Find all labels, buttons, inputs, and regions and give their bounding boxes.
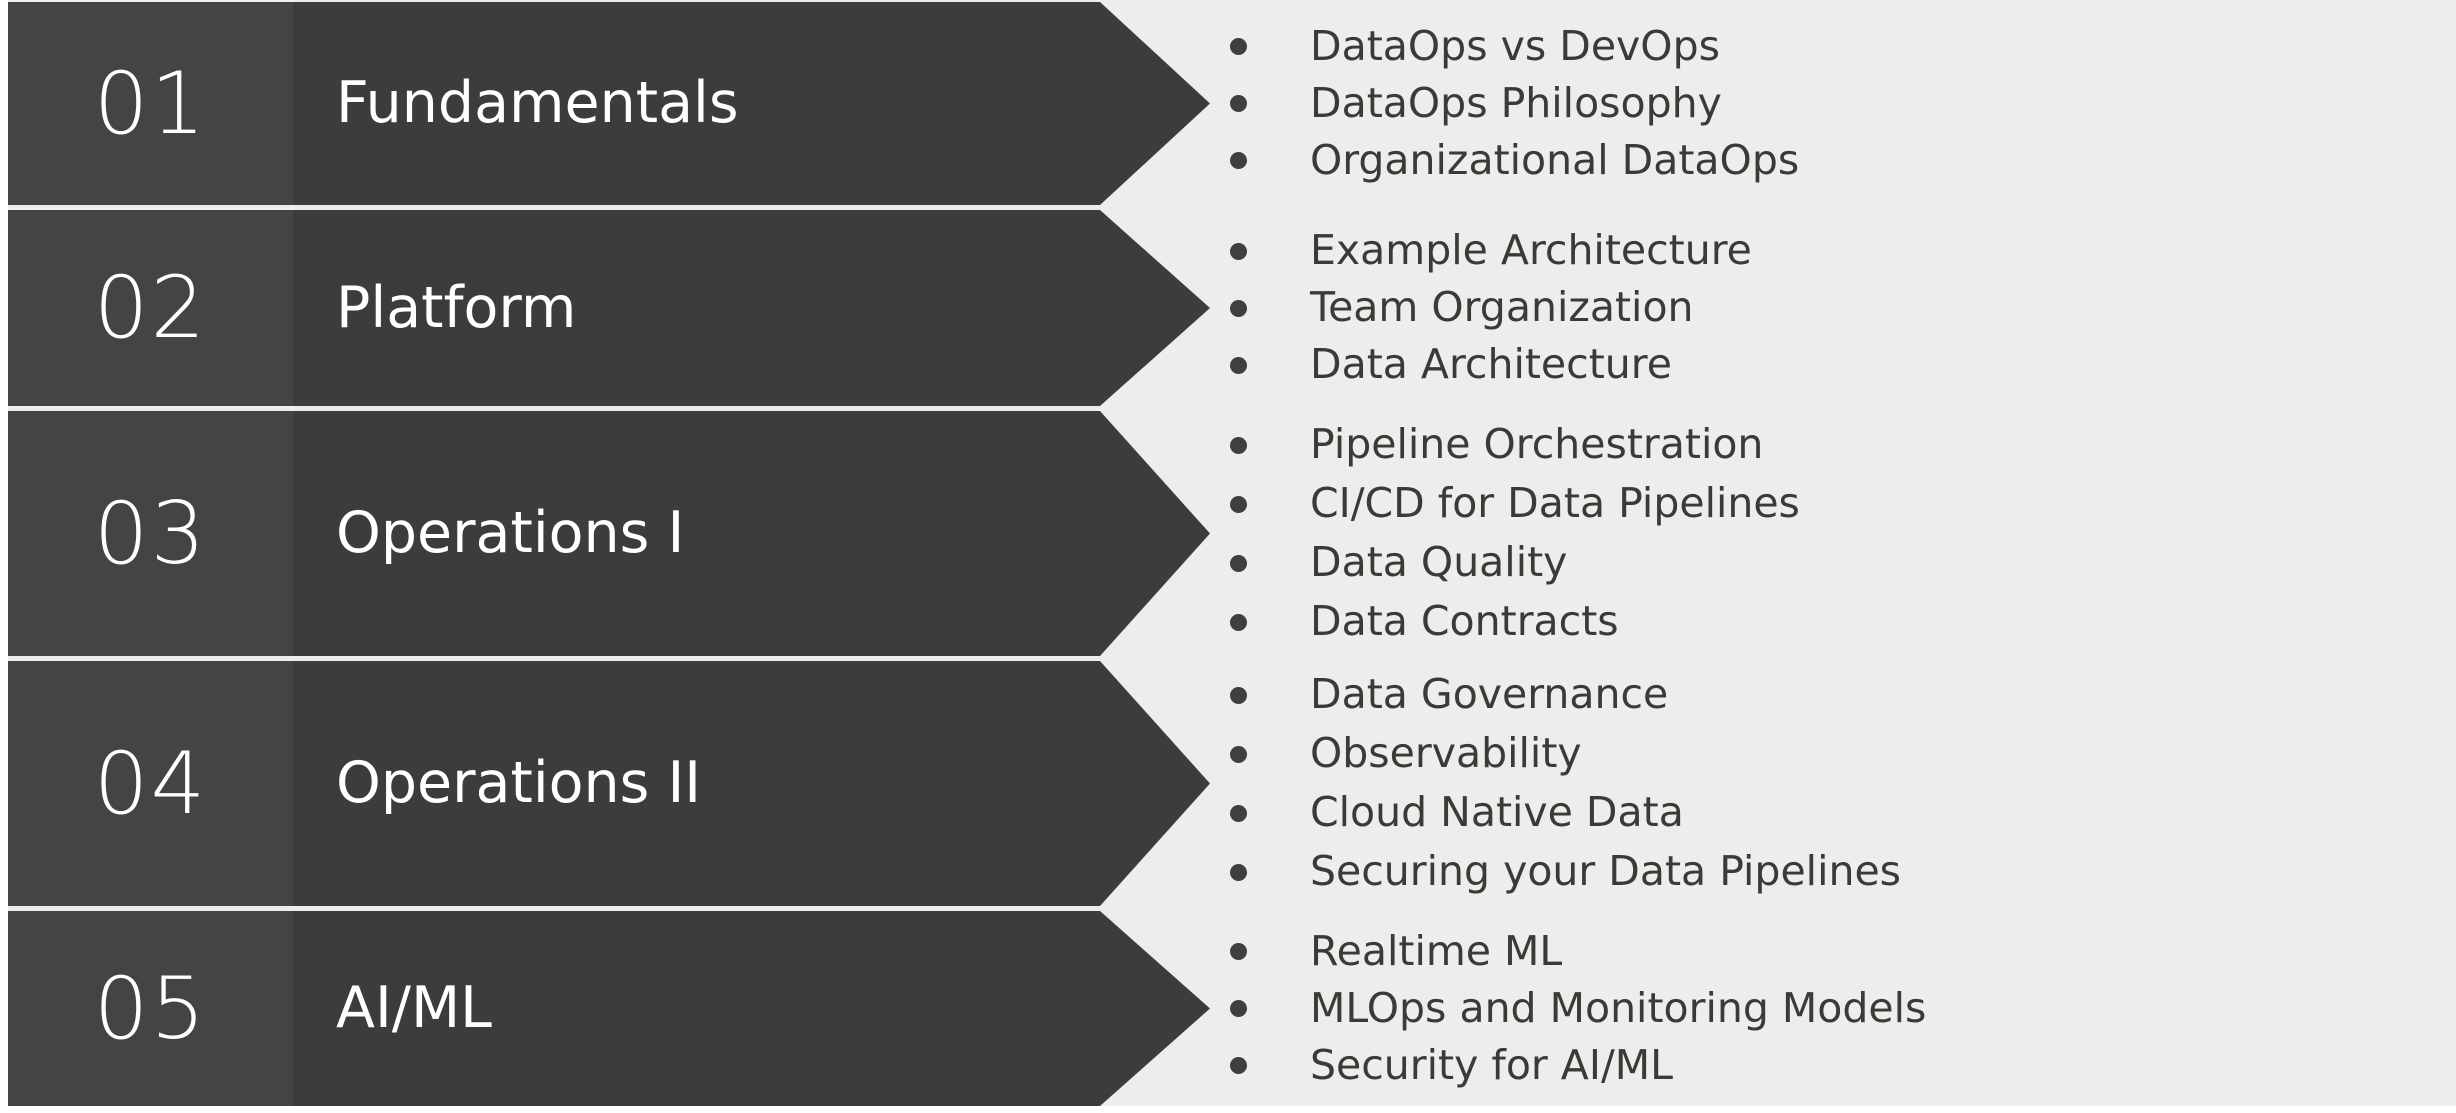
section-number-block <box>8 2 293 205</box>
bullet-item[interactable]: Data Architecture <box>1222 337 2456 394</box>
bullet-label: Data Governance <box>1310 673 1668 716</box>
bullet-dot-icon <box>1230 805 1247 822</box>
bullet-label: DataOps vs DevOps <box>1310 25 1720 68</box>
bullet-dot-icon <box>1230 1000 1247 1017</box>
bullet-item[interactable]: Securing your Data Pipelines <box>1222 843 2456 902</box>
bullet-dot-icon <box>1230 38 1247 55</box>
bullet-label: Security for AI/ML <box>1310 1044 1673 1087</box>
bullet-item[interactable]: Cloud Native Data <box>1222 784 2456 843</box>
bullet-item[interactable]: DataOps vs DevOps <box>1222 18 2456 75</box>
chevron-shape <box>8 210 1210 406</box>
bullet-dot-icon <box>1230 746 1247 763</box>
bullet-item[interactable]: MLOps and Monitoring Models <box>1222 980 2456 1037</box>
bullet-dot-icon <box>1230 152 1247 169</box>
bullet-label: Observability <box>1310 732 1582 775</box>
bullet-dot-icon <box>1230 687 1247 704</box>
bullet-item[interactable]: CI/CD for Data Pipelines <box>1222 475 2456 534</box>
section-chevron-banner[interactable]: 01Fundamentals <box>8 2 1210 205</box>
bullet-item[interactable]: Team Organization <box>1222 280 2456 337</box>
section-bullet-list: Realtime MLMLOps and Monitoring ModelsSe… <box>1222 911 2456 1106</box>
bullet-item[interactable]: Data Quality <box>1222 534 2456 593</box>
section-row[interactable]: 01FundamentalsDataOps vs DevOpsDataOps P… <box>0 2 2456 205</box>
chevron-shape <box>8 661 1210 906</box>
bullet-dot-icon <box>1230 943 1247 960</box>
bullet-dot-icon <box>1230 614 1247 631</box>
bullet-dot-icon <box>1230 555 1247 572</box>
section-number-block <box>8 661 293 906</box>
bullet-label: MLOps and Monitoring Models <box>1310 987 1926 1030</box>
bullet-dot-icon <box>1230 243 1247 260</box>
section-row[interactable]: 02PlatformExample ArchitectureTeam Organ… <box>0 210 2456 406</box>
section-chevron-banner[interactable]: 05AI/ML <box>8 911 1210 1106</box>
chevron-shape <box>8 411 1210 656</box>
bullet-item[interactable]: Organizational DataOps <box>1222 132 2456 189</box>
bullet-label: Organizational DataOps <box>1310 139 1799 182</box>
section-row[interactable]: 03Operations IPipeline OrchestrationCI/C… <box>0 411 2456 656</box>
agenda-slide: 01FundamentalsDataOps vs DevOpsDataOps P… <box>0 0 2456 1113</box>
bullet-label: Data Contracts <box>1310 600 1619 643</box>
section-row-list: 01FundamentalsDataOps vs DevOpsDataOps P… <box>0 0 2456 1113</box>
section-chevron-banner[interactable]: 04Operations II <box>8 661 1210 906</box>
bullet-item[interactable]: Pipeline Orchestration <box>1222 416 2456 475</box>
section-number-block <box>8 911 293 1106</box>
bullet-item[interactable]: Data Contracts <box>1222 593 2456 652</box>
section-bullet-list: Example ArchitectureTeam OrganizationDat… <box>1222 210 2456 406</box>
section-number-block <box>8 210 293 406</box>
bullet-label: Pipeline Orchestration <box>1310 423 1763 466</box>
bullet-dot-icon <box>1230 1057 1247 1074</box>
bullet-label: CI/CD for Data Pipelines <box>1310 482 1800 525</box>
bullet-label: Example Architecture <box>1310 229 1752 272</box>
section-bullet-list: Data GovernanceObservabilityCloud Native… <box>1222 661 2456 906</box>
bullet-dot-icon <box>1230 300 1247 317</box>
bullet-label: Securing your Data Pipelines <box>1310 850 1901 893</box>
section-bullet-list: DataOps vs DevOpsDataOps PhilosophyOrgan… <box>1222 2 2456 205</box>
bullet-label: Data Architecture <box>1310 343 1672 386</box>
bullet-item[interactable]: Realtime ML <box>1222 923 2456 980</box>
bullet-item[interactable]: Observability <box>1222 725 2456 784</box>
bullet-item[interactable]: Security for AI/ML <box>1222 1037 2456 1094</box>
section-chevron-banner[interactable]: 03Operations I <box>8 411 1210 656</box>
bullet-label: Realtime ML <box>1310 930 1562 973</box>
section-row[interactable]: 04Operations IIData GovernanceObservabil… <box>0 661 2456 906</box>
chevron-shape <box>8 2 1210 205</box>
bullet-dot-icon <box>1230 95 1247 112</box>
bullet-label: Data Quality <box>1310 541 1567 584</box>
bullet-dot-icon <box>1230 357 1247 374</box>
bullet-label: DataOps Philosophy <box>1310 82 1722 125</box>
chevron-shape <box>8 911 1210 1106</box>
bullet-item[interactable]: Example Architecture <box>1222 223 2456 280</box>
section-number-block <box>8 411 293 656</box>
bullet-item[interactable]: DataOps Philosophy <box>1222 75 2456 132</box>
bullet-dot-icon <box>1230 437 1247 454</box>
section-row[interactable]: 05AI/MLRealtime MLMLOps and Monitoring M… <box>0 911 2456 1106</box>
bullet-item[interactable]: Data Governance <box>1222 666 2456 725</box>
bullet-dot-icon <box>1230 496 1247 513</box>
bullet-label: Team Organization <box>1310 286 1694 329</box>
section-bullet-list: Pipeline OrchestrationCI/CD for Data Pip… <box>1222 411 2456 656</box>
bullet-dot-icon <box>1230 864 1247 881</box>
section-chevron-banner[interactable]: 02Platform <box>8 210 1210 406</box>
bullet-label: Cloud Native Data <box>1310 791 1684 834</box>
